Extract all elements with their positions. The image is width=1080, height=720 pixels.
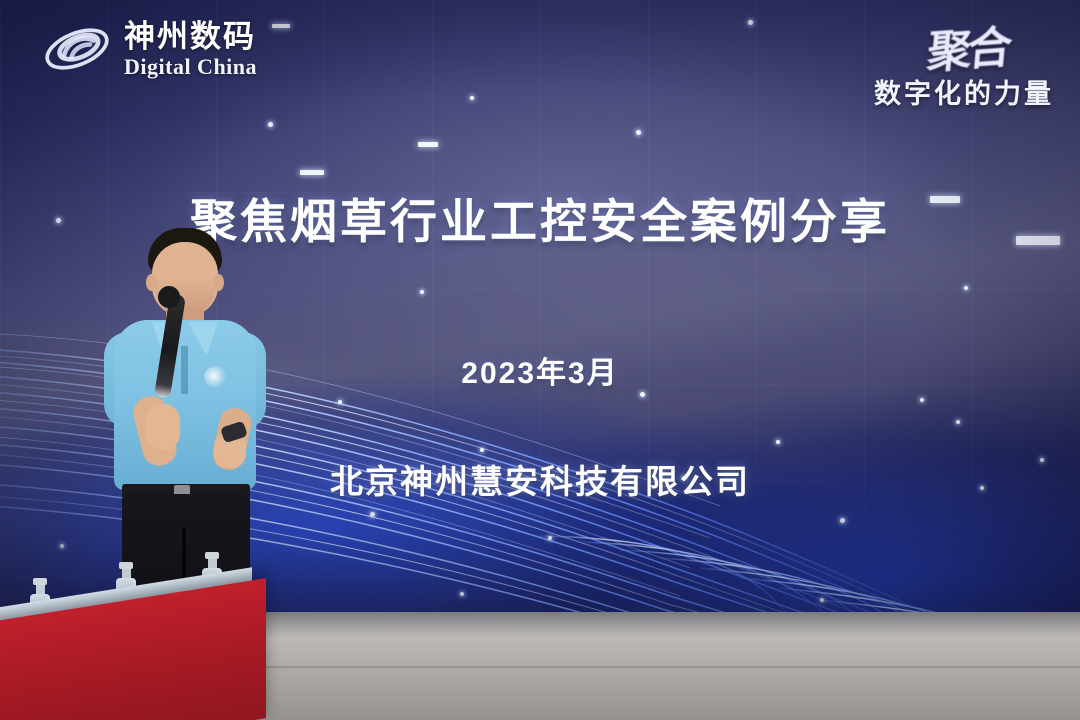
event-calligraphy: 聚合 xyxy=(925,11,1011,80)
brand-name-cn: 神州数码 xyxy=(124,21,257,52)
speaker-shirt-logo xyxy=(204,366,228,388)
swirl-galaxy-icon xyxy=(40,18,114,80)
digital-china-logo: 神州数码 Digital China xyxy=(40,18,257,80)
speaker-ear-left xyxy=(146,274,157,291)
speaker-hand-left xyxy=(146,404,180,450)
speaker-presenter xyxy=(96,228,276,612)
brand-name-en: Digital China xyxy=(124,56,257,78)
speaker-shirt-placket xyxy=(181,346,188,394)
bottle-cap xyxy=(205,552,219,559)
conference-stage-photo: 神州数码 Digital China 聚合 数字化的力量 聚焦烟草行业工控安全案… xyxy=(0,0,1080,720)
bottle-cap xyxy=(33,578,47,585)
digital-china-wordmark: 神州数码 Digital China xyxy=(124,21,257,78)
event-logo: 聚合 数字化的力量 xyxy=(874,14,1054,111)
bottle-cap xyxy=(119,562,133,569)
bottle-neck xyxy=(122,569,131,578)
bottle-neck xyxy=(36,585,45,594)
speaker-ear-right xyxy=(213,274,224,291)
foreground-panel-table xyxy=(0,560,280,720)
bottle-neck xyxy=(208,559,217,568)
